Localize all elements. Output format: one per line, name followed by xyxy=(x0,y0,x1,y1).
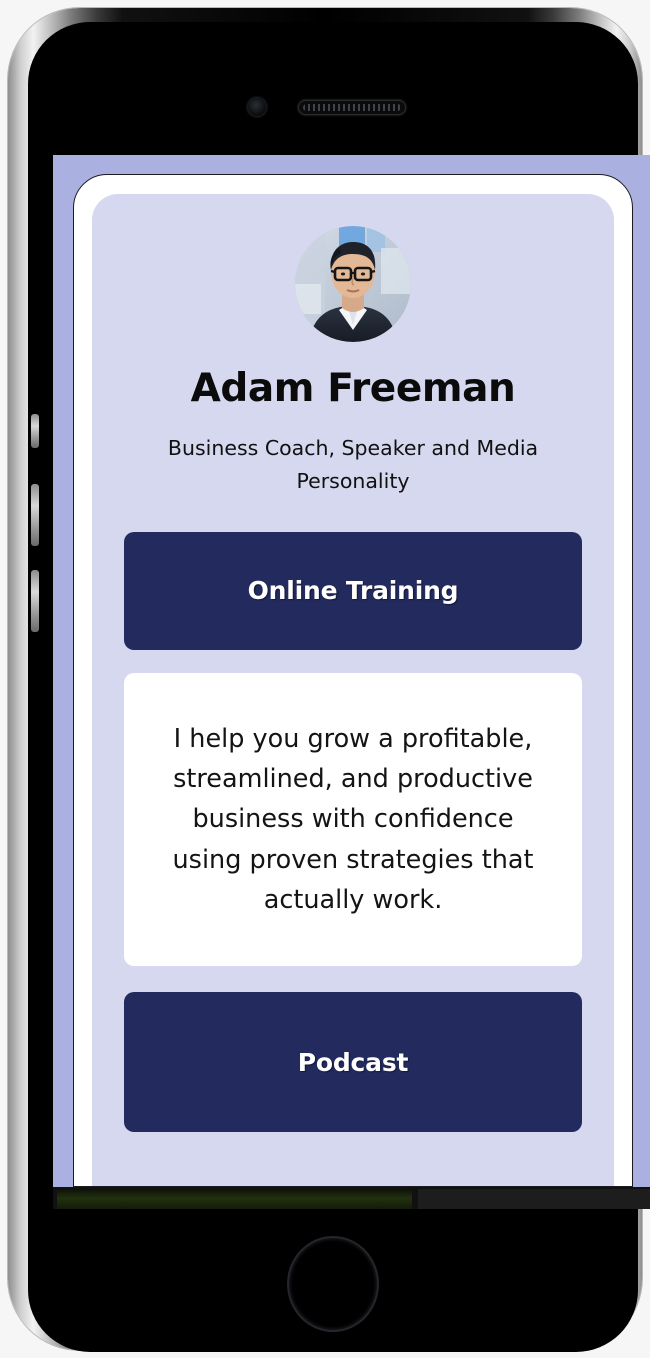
bio-text: I help you grow a profitable, streamline… xyxy=(154,719,552,920)
link-in-bio-panel: Adam Freeman Business Coach, Speaker and… xyxy=(92,194,614,1186)
podcast-button[interactable]: Podcast xyxy=(124,992,582,1132)
page-title: Adam Freeman xyxy=(124,368,582,410)
volume-up-button[interactable] xyxy=(31,484,39,546)
screenshot-stage: Adam Freeman Business Coach, Speaker and… xyxy=(0,0,650,1358)
avatar-photo-icon xyxy=(295,226,411,342)
phone-screen: Adam Freeman Business Coach, Speaker and… xyxy=(53,155,650,1187)
profile-tagline: Business Coach, Speaker and Media Person… xyxy=(124,432,582,498)
online-training-link-wrapper: Online Training xyxy=(124,532,582,650)
front-camera-icon xyxy=(248,98,266,116)
profile-content: Adam Freeman Business Coach, Speaker and… xyxy=(92,194,614,1132)
home-button[interactable] xyxy=(287,1236,379,1332)
earpiece-speaker-grille xyxy=(298,100,406,115)
mute-switch[interactable] xyxy=(31,414,39,448)
online-training-button[interactable]: Online Training xyxy=(124,532,582,650)
phone-body: Adam Freeman Business Coach, Speaker and… xyxy=(28,22,638,1352)
avatar xyxy=(295,226,411,342)
dark-bleed xyxy=(418,1189,650,1209)
podcast-link-wrapper: Podcast xyxy=(124,992,582,1132)
grass-bleed xyxy=(57,1189,412,1209)
phone-outer-frame: Adam Freeman Business Coach, Speaker and… xyxy=(8,8,642,1350)
page-white-card: Adam Freeman Business Coach, Speaker and… xyxy=(73,174,633,1187)
screen-bleed-strip xyxy=(53,1187,650,1209)
volume-down-button[interactable] xyxy=(31,570,39,632)
bio-card: I help you grow a profitable, streamline… xyxy=(124,673,582,966)
